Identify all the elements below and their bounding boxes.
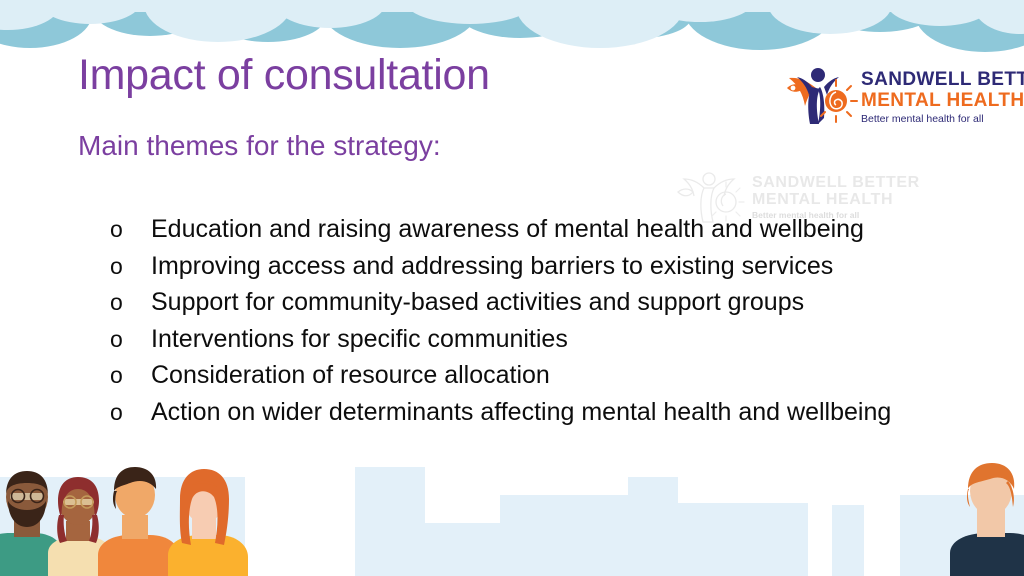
slide-subtitle: Main themes for the strategy: xyxy=(78,131,441,162)
logo-line1: SANDWELL BETTER xyxy=(861,70,1024,89)
list-item-label: Support for community-based activities a… xyxy=(151,285,950,321)
list-item-label: Improving access and addressing barriers… xyxy=(151,249,950,285)
slide-title: Impact of consultation xyxy=(78,53,490,98)
list-item: o Action on wider determinants affecting… xyxy=(110,395,950,431)
logo-watermark-tagline: Better mental health for all xyxy=(752,211,922,220)
sandwell-logo-mark-icon xyxy=(786,66,858,128)
list-item: o Interventions for specific communities xyxy=(110,322,950,358)
bullet-marker-icon: o xyxy=(110,212,151,248)
bullet-marker-icon: o xyxy=(110,358,151,394)
bullet-marker-icon: o xyxy=(110,249,151,285)
list-item-label: Interventions for specific communities xyxy=(151,322,950,358)
bullet-marker-icon: o xyxy=(110,322,151,358)
list-item-label: Action on wider determinants affecting m… xyxy=(151,395,950,431)
slide: Impact of consultation Main themes for t… xyxy=(0,0,1024,576)
logo-watermark-line1: SANDWELL BETTER xyxy=(752,175,922,191)
list-item: o Consideration of resource allocation xyxy=(110,358,950,394)
list-item: o Support for community-based activities… xyxy=(110,285,950,321)
logo-text: SANDWELL BETTER MENTAL HEALTH Better men… xyxy=(858,70,1024,125)
sandwell-logo-mark-watermark-icon xyxy=(676,168,750,226)
logo-watermark: SANDWELL BETTER MENTAL HEALTH Better men… xyxy=(676,166,922,228)
logo-tagline: Better mental health for all xyxy=(861,114,1024,125)
bullet-marker-icon: o xyxy=(110,285,151,321)
sandwell-better-mental-health-logo: SANDWELL BETTER MENTAL HEALTH Better men… xyxy=(786,64,1008,130)
logo-line2: MENTAL HEALTH xyxy=(861,91,1024,110)
bottom-illustration xyxy=(0,455,1024,576)
list-item-label: Consideration of resource allocation xyxy=(151,358,950,394)
bullet-marker-icon: o xyxy=(110,395,151,431)
main-themes-list: o Education and raising awareness of men… xyxy=(110,212,950,431)
logo-watermark-text: SANDWELL BETTER MENTAL HEALTH Better men… xyxy=(750,175,922,220)
list-item: o Improving access and addressing barrie… xyxy=(110,249,950,285)
logo-watermark-line2: MENTAL HEALTH xyxy=(752,192,922,208)
